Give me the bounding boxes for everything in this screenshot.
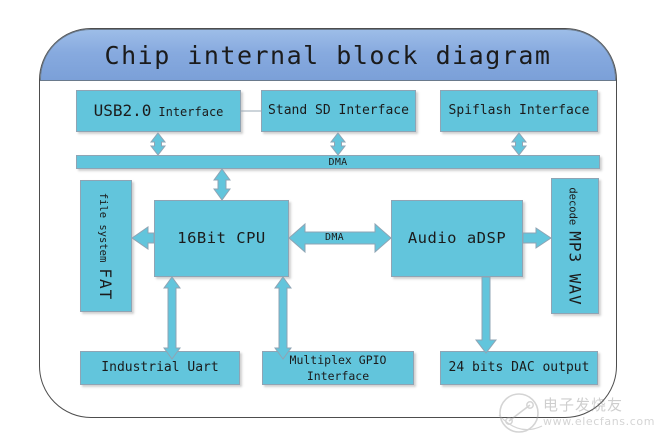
block-audio-adsp[interactable]: Audio aDSP — [391, 200, 523, 277]
block-usb-interface[interactable]: USB2.0 Interface — [76, 90, 241, 132]
block-cpu-label: 16Bit CPU — [177, 229, 266, 248]
block-fat-label-sub: file system — [98, 192, 110, 262]
block-fat-file-system[interactable]: file system FAT — [80, 180, 132, 312]
dma-bus-bar[interactable]: DMA — [76, 155, 600, 169]
arrow-dma-label: DMA — [325, 232, 344, 243]
block-stand-sd-label: Stand SD Interface — [268, 103, 409, 119]
dma-bus-label: DMA — [329, 157, 348, 168]
block-mp3-label-sub: decode — [567, 187, 579, 225]
block-spiflash-interface[interactable]: Spiflash Interface — [440, 90, 598, 132]
page-title: Chip internal block diagram — [105, 41, 552, 70]
block-uart-label: Industrial Uart — [101, 360, 218, 376]
block-mp3-wav-decode[interactable]: decode MP3 WAV — [551, 178, 599, 314]
block-usb-label-main: USB2.0 — [94, 101, 152, 121]
block-spiflash-label: Spiflash Interface — [449, 103, 590, 119]
diagram-canvas: Chip internal block diagram USB2.0 Inter… — [0, 0, 657, 440]
block-fat-label-main: FAT — [97, 268, 116, 300]
block-gpio-label-line1: Multiplex GPIO — [290, 353, 387, 367]
diagram-header: Chip internal block diagram — [40, 29, 616, 81]
block-stand-sd-interface[interactable]: Stand SD Interface — [261, 90, 416, 132]
block-mp3-label-main: MP3 WAV — [566, 231, 585, 305]
block-usb-label-sub: Interface — [158, 105, 223, 120]
block-adsp-label: Audio aDSP — [408, 229, 506, 248]
block-24bits-dac-output[interactable]: 24 bits DAC output — [440, 351, 598, 385]
block-gpio-label-line2: Interface — [307, 369, 369, 383]
block-multiplex-gpio-interface[interactable]: Multiplex GPIO Interface — [262, 351, 414, 385]
block-industrial-uart[interactable]: Industrial Uart — [80, 351, 240, 385]
block-16bit-cpu[interactable]: 16Bit CPU — [154, 200, 289, 277]
block-dac-label: 24 bits DAC output — [449, 360, 590, 376]
